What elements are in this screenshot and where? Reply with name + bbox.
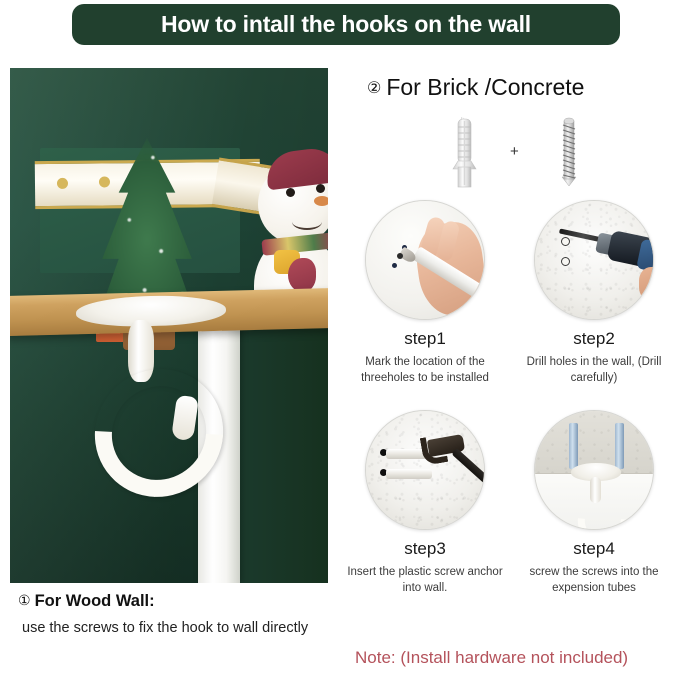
photo-snowman-eye [286, 188, 295, 197]
step2-hand [639, 267, 654, 301]
step2-caption: Drill holes in the wall, (Drill carefull… [509, 355, 679, 386]
step1-photo [365, 200, 485, 320]
plus-sign: + [510, 143, 519, 160]
photo-snowman-nose [314, 196, 328, 206]
page-title: How to intall the hooks on the wall [161, 11, 531, 38]
wood-wall-body: use the screws to fix the hook to wall d… [22, 618, 333, 639]
step3-photo [365, 410, 485, 530]
step1-pencil-lead [397, 253, 403, 259]
step3-caption: Insert the plastic screw anchor into wal… [340, 565, 510, 596]
page-title-banner: How to intall the hooks on the wall [72, 4, 620, 45]
step4-label: step4 [509, 539, 679, 559]
photo-snowman-eye [316, 184, 325, 193]
wood-wall-section: ①For Wood Wall: use the screws to fix th… [18, 592, 333, 639]
note-text: Note: (Install hardware not included) [355, 648, 628, 668]
step3-plastic-anchor [386, 469, 432, 479]
step-cell-4: step4 screw the screws into the expensio… [509, 410, 679, 596]
hardware-row: + [410, 115, 620, 190]
photo-snowman-arm [288, 258, 316, 292]
step2-label: step2 [509, 329, 679, 349]
wood-wall-heading: ①For Wood Wall: [18, 592, 333, 611]
screw-icon [556, 115, 582, 189]
brick-concrete-section: ②For Brick /Concrete [340, 60, 679, 676]
step4-screw [569, 423, 578, 469]
section-number-one: ① [18, 592, 31, 608]
product-photo-hook-under-shelf [10, 68, 328, 583]
photo-cornice-ornament [99, 176, 110, 187]
wall-anchor-icon [448, 115, 482, 189]
photo-cornice-ornament [57, 178, 68, 189]
step4-caption: screw the screws into the expension tube… [509, 565, 679, 596]
step4-screw [615, 423, 624, 469]
photo-wall-dark-panel [240, 323, 328, 583]
step-cell-1: step1 Mark the location of the threehole… [340, 200, 510, 386]
wood-wall-heading-text: For Wood Wall: [35, 592, 155, 610]
step-cell-2: step2 Drill holes in the wall, (Drill ca… [509, 200, 679, 386]
brick-section-heading-text: For Brick /Concrete [386, 74, 584, 100]
step2-drilled-hole [561, 257, 570, 266]
step1-caption: Mark the location of the threeholes to b… [340, 355, 510, 386]
brick-section-heading: ②For Brick /Concrete [367, 74, 584, 101]
step-cell-3: step3 Insert the plastic screw anchor in… [340, 410, 510, 596]
step1-label: step1 [340, 329, 510, 349]
step4-photo [534, 410, 654, 530]
section-number-two: ② [367, 80, 381, 97]
photo-snowman-mouth [292, 214, 322, 230]
step2-photo [534, 200, 654, 320]
step3-label: step3 [340, 539, 510, 559]
step1-mark-dot [392, 263, 397, 268]
step2-drilled-hole [561, 237, 570, 246]
